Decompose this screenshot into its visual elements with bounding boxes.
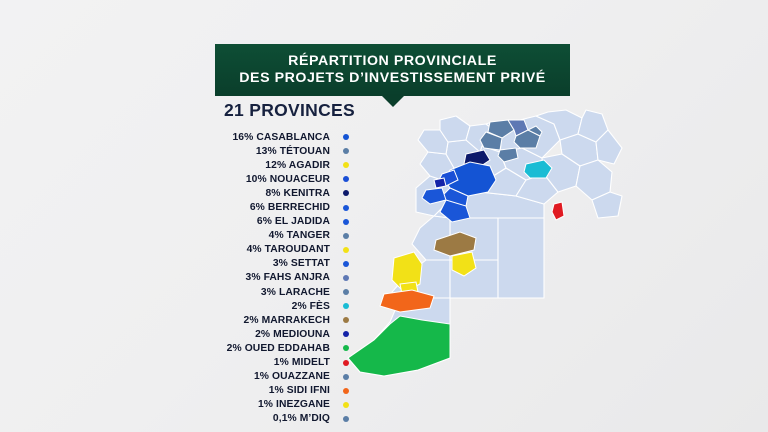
legend-item-label: 16% CASABLANCA: [222, 132, 330, 143]
map-region-oued-eddahab: [348, 316, 450, 376]
legend-item-label: 4% TANGER: [222, 230, 330, 241]
legend-item-label: 2% MEDIOUNA: [222, 329, 330, 340]
legend-item-label: 10% NOUACEUR: [222, 174, 330, 185]
map-region-mediouna: [434, 178, 446, 188]
legend-item-label: 2% OUED EDDAHAB: [222, 343, 330, 354]
legend-row: 0,1% M’DIQ: [222, 412, 372, 426]
map-region-midelt: [552, 202, 564, 220]
title-line-1: RÉPARTITION PROVINCIALE: [225, 53, 560, 70]
legend-color-dot: [343, 402, 349, 408]
legend-item-label: 1% SIDI IFNI: [222, 385, 330, 396]
legend-item-label: 3% LARACHE: [222, 287, 330, 298]
legend-item-label: 8% KENITRA: [222, 188, 330, 199]
legend-item-label: 2% FÈS: [222, 301, 330, 312]
legend-item-label: 1% MIDELT: [222, 357, 330, 368]
legend-item-label: 1% OUAZZANE: [222, 371, 330, 382]
legend-color-dot: [343, 416, 349, 422]
legend-row: 1% INEZGANE: [222, 398, 372, 412]
map-region-sidi-ifni: [380, 290, 434, 312]
legend-item-label: 2% MARRAKECH: [222, 315, 330, 326]
legend-item-label: 12% AGADIR: [222, 160, 330, 171]
legend-item-label: 13% TÉTOUAN: [222, 146, 330, 157]
legend-item-label: 6% BERRECHID: [222, 202, 330, 213]
legend-item-label: 1% INEZGANE: [222, 399, 330, 410]
banner-notch-icon: [382, 96, 404, 107]
title-banner: RÉPARTITION PROVINCIALE DES PROJETS D’IN…: [215, 44, 570, 96]
legend-item-label: 4% TAROUDANT: [222, 244, 330, 255]
title-line-2: DES PROJETS D’INVESTISSEMENT PRIVÉ: [225, 70, 560, 87]
map-container: [330, 108, 630, 398]
legend-item-label: 3% SETTAT: [222, 258, 330, 269]
legend-item-label: 6% EL JADIDA: [222, 216, 330, 227]
legend-item-label: 0,1% M’DIQ: [222, 413, 330, 424]
legend-item-label: 3% FAHS ANJRA: [222, 272, 330, 283]
morocco-map: [330, 108, 630, 398]
